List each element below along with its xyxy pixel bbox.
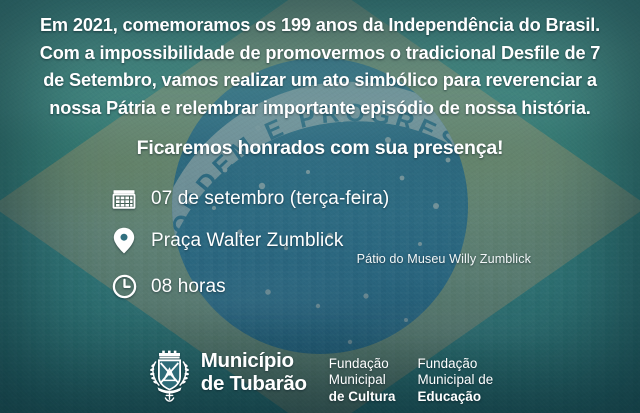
detail-time-text: 08 horas <box>151 276 226 298</box>
partner-cultura-line-3: de Cultura <box>329 389 396 405</box>
detail-location-text: Praça Walter Zumblick <box>151 230 344 252</box>
partner-educacao-line-3: Educação <box>417 389 493 405</box>
partner-educacao-line-2: Municipal de <box>417 372 493 388</box>
detail-row-time: 08 horas <box>111 266 531 308</box>
partner-logo-cultura: Fundação Municipal de Cultura <box>329 344 396 405</box>
callout-text: Ficaremos honrados com sua presença! <box>137 137 504 160</box>
municipality-wordmark: Município de Tubarão <box>201 350 307 396</box>
municipality-logo: Município de Tubarão <box>147 344 307 402</box>
headline-line-4: nossa Pátria e relembrar importante epis… <box>20 95 620 123</box>
clock-icon <box>111 274 137 300</box>
detail-row-date: 07 de setembro (terça-feira) <box>111 178 531 220</box>
event-details: 07 de setembro (terça-feira) Praça Walte… <box>111 178 531 308</box>
partner-cultura-line-2: Municipal <box>329 372 396 388</box>
headline-line-3: de Setembro, vamos realizar um ato simbó… <box>20 67 620 95</box>
footer-logos: Município de Tubarão Fundação Municipal … <box>0 344 640 405</box>
headline-line-1: Em 2021, comemoramos os 199 anos da Inde… <box>20 12 620 40</box>
partner-educacao-line-1: Fundação <box>417 356 493 372</box>
headline-line-2: Com a impossibilidade de promovermos o t… <box>20 40 620 68</box>
detail-date-text: 07 de setembro (terça-feira) <box>151 188 389 210</box>
headline-paragraph: Em 2021, comemoramos os 199 anos da Inde… <box>20 12 620 123</box>
calendar-icon <box>111 186 137 212</box>
poster-content: Em 2021, comemoramos os 199 anos da Inde… <box>0 0 640 413</box>
partner-logo-educacao: Fundação Municipal de Educação <box>417 344 493 405</box>
partner-cultura-line-1: Fundação <box>329 356 396 372</box>
brand-line-2: de Tubarão <box>201 372 307 395</box>
map-pin-icon <box>111 228 137 254</box>
detail-location-subtext: Pátio do Museu Willy Zumblick <box>111 252 531 266</box>
brand-line-1: Município <box>201 349 294 372</box>
poster-canvas: ORDEM E PROGRESSO Em 2021, <box>0 0 640 413</box>
tubarao-coat-of-arms-icon <box>147 344 193 402</box>
